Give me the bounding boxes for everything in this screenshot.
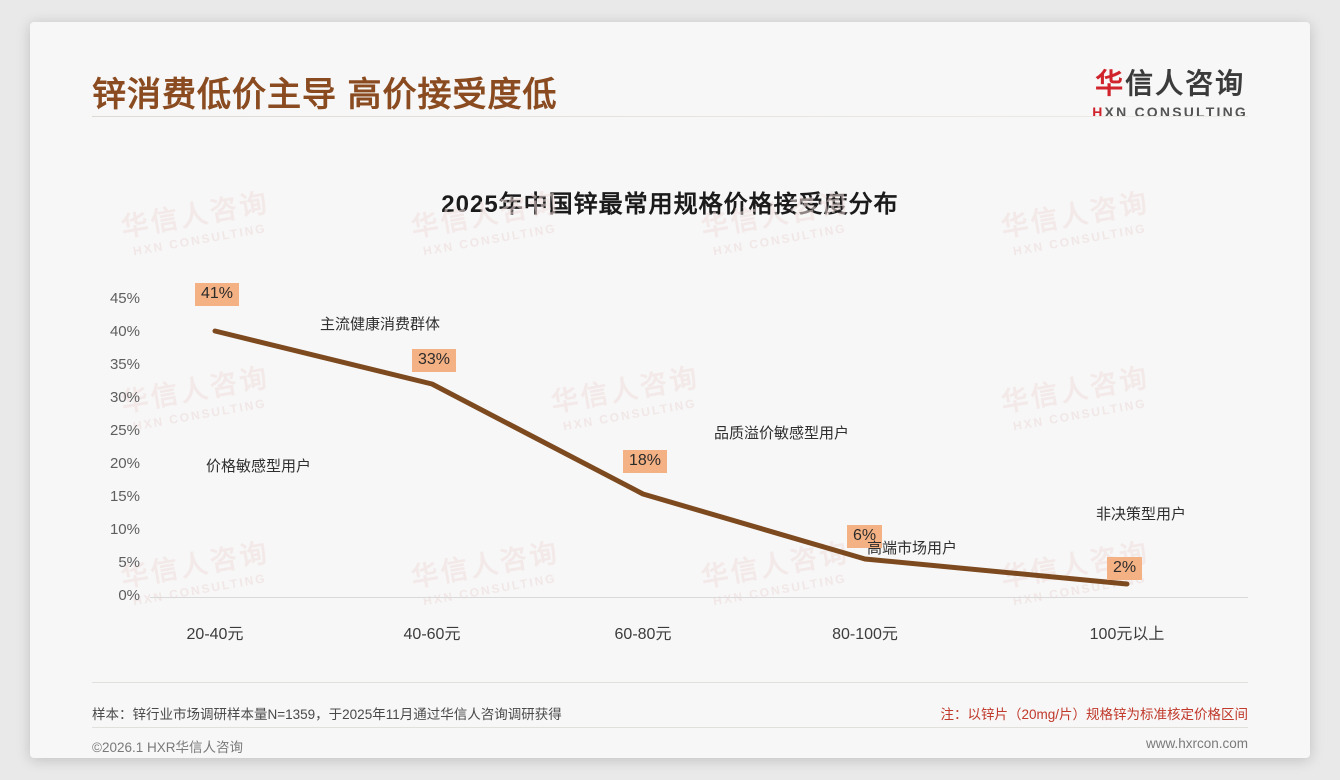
watermark-en: HXN CONSULTING bbox=[125, 221, 275, 259]
data-label: 41% bbox=[195, 283, 239, 306]
x-tick-label: 60-80元 bbox=[583, 620, 703, 644]
slide-card: 锌消费低价主导 高价接受度低 华信人咨询 HXN CONSULTING 2025… bbox=[30, 22, 1310, 758]
brand-logo-cn: 华信人咨询 bbox=[1092, 70, 1248, 98]
footer-sample-note: 样本：锌行业市场调研样本量N=1359，于2025年11月通过华信人咨询调研获得 bbox=[92, 703, 562, 723]
x-tick-label: 100元以上 bbox=[1067, 620, 1187, 644]
data-label: 2% bbox=[1107, 557, 1142, 580]
brand-logo: 华信人咨询 HXN CONSULTING bbox=[1092, 70, 1248, 119]
chart-title: 2025年中国锌最常用规格价格接受度分布 bbox=[30, 184, 1310, 219]
watermark-en: HXN CONSULTING bbox=[1005, 221, 1155, 259]
footer-divider-top bbox=[92, 682, 1248, 683]
annotation-mainstream-health: 主流健康消费群体 bbox=[320, 313, 440, 334]
header-divider bbox=[92, 116, 1248, 117]
annotation-high-end-market: 高端市场用户 bbox=[867, 537, 957, 558]
x-tick-label: 20-40元 bbox=[155, 620, 275, 644]
page-title: 锌消费低价主导 高价接受度低 bbox=[92, 78, 557, 112]
brand-logo-cn-rest: 信人咨询 bbox=[1125, 68, 1245, 99]
annotation-price-sensitive: 价格敏感型用户 bbox=[206, 455, 311, 476]
data-label: 33% bbox=[412, 349, 456, 372]
footer-warning-note: 注：以锌片（20mg/片）规格锌为标准核定价格区间 bbox=[940, 703, 1248, 723]
chart-plot-area: 华信人咨询 HXN CONSULTING 华信人咨询 HXN CONSULTIN… bbox=[92, 257, 1248, 657]
line-series-path bbox=[215, 331, 1127, 584]
brand-logo-en-rest: XN CONSULTING bbox=[1105, 104, 1248, 120]
footer-copyright: ©2026.1 HXR华信人咨询 bbox=[92, 736, 243, 756]
x-tick-label: 80-100元 bbox=[805, 620, 925, 644]
brand-logo-en-highlight: H bbox=[1092, 104, 1104, 120]
x-tick-label: 40-60元 bbox=[372, 620, 492, 644]
watermark-en: HXN CONSULTING bbox=[705, 221, 855, 259]
slide-header: 锌消费低价主导 高价接受度低 华信人咨询 HXN CONSULTING bbox=[30, 22, 1310, 116]
annotation-non-decision: 非决策型用户 bbox=[1096, 503, 1186, 524]
footer-website: www.hxrcon.com bbox=[1146, 736, 1248, 751]
watermark-en: HXN CONSULTING bbox=[415, 221, 565, 259]
brand-logo-cn-highlight: 华 bbox=[1095, 68, 1125, 99]
footer-divider-bottom bbox=[92, 727, 1248, 728]
annotation-quality-premium: 品质溢价敏感型用户 bbox=[714, 422, 849, 443]
data-label: 18% bbox=[623, 450, 667, 473]
